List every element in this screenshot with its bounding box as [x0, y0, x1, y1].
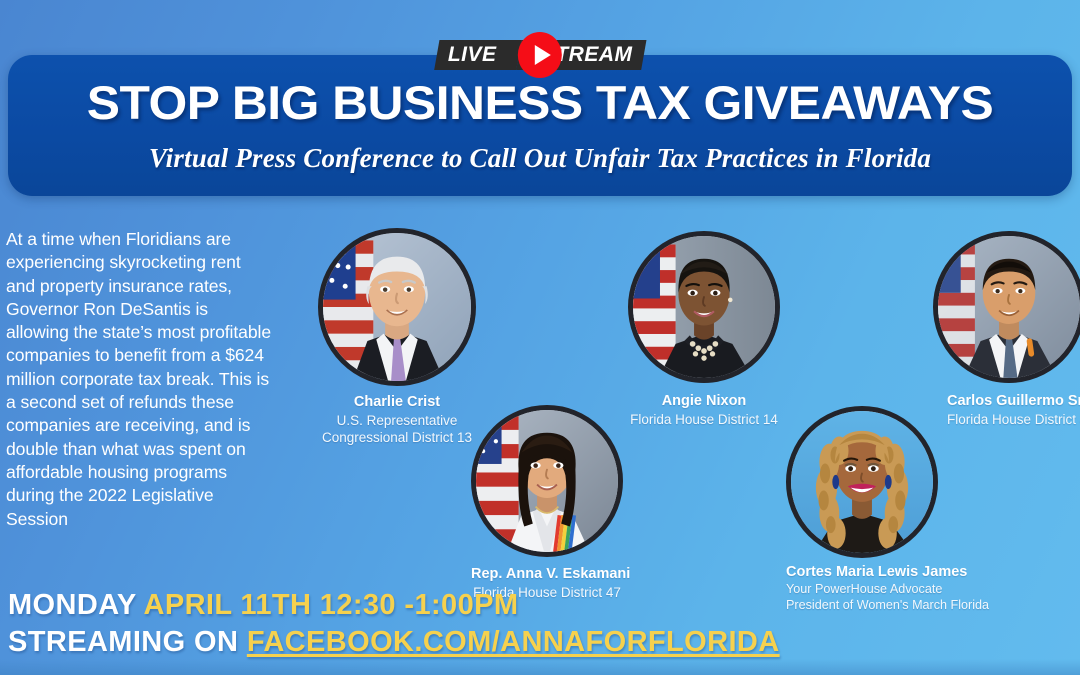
avatar-charlie-crist [318, 228, 476, 386]
live-label: LIVE [448, 43, 497, 67]
live-stream-badge: LIVE STREAM [437, 33, 643, 77]
speaker-name: Cortes Maria Lewis James [786, 564, 938, 582]
avatar-angie-nixon [628, 231, 780, 383]
footer-datetime: APRIL 11TH 12:30 -1:00PM [143, 589, 518, 621]
speaker-name: Charlie Crist [318, 394, 476, 412]
speaker-charlie-crist: Charlie Crist U.S. Representative Congre… [318, 228, 476, 446]
footer-day: MONDAY [8, 589, 143, 621]
facebook-link[interactable]: FACEBOOK.COM/ANNAFORFLORIDA [247, 626, 780, 658]
page-subtitle: Virtual Press Conference to Call Out Unf… [8, 143, 1072, 174]
speaker-district: Florida House District 49 [947, 411, 1080, 428]
page-title: STOP BIG BUSINESS TAX GIVEAWAYS [0, 75, 1080, 130]
footer-details: MONDAY APRIL 11TH 12:30 -1:00PM STREAMIN… [8, 587, 780, 661]
caption-cortes-maria-lewis-james: Cortes Maria Lewis James Your PowerHouse… [786, 564, 938, 613]
speaker-org: President of Women's March Florida [786, 598, 938, 614]
caption-carlos-guillermo-smith: Carlos Guillermo Smith Florida House Dis… [933, 393, 1080, 428]
speaker-role: Your PowerHouse Advocate [786, 582, 938, 598]
speaker-cortes-maria-lewis-james: Cortes Maria Lewis James Your PowerHouse… [786, 406, 938, 613]
speaker-angie-nixon: Angie Nixon Florida House District 14 [628, 231, 780, 428]
speaker-name: Carlos Guillermo Smith [947, 393, 1080, 411]
speaker-district: Congressional District 13 [318, 429, 476, 446]
footer-date-line: MONDAY APRIL 11TH 12:30 -1:00PM [8, 587, 780, 624]
speaker-name: Rep. Anna V. Eskamani [471, 566, 623, 584]
flyer-canvas: STOP BIG BUSINESS TAX GIVEAWAYS Virtual … [0, 0, 1080, 675]
caption-angie-nixon: Angie Nixon Florida House District 14 [628, 393, 780, 428]
caption-charlie-crist: Charlie Crist U.S. Representative Congre… [318, 394, 476, 446]
avatar-cortes-maria-lewis-james [786, 406, 938, 558]
footer-streaming-label: STREAMING ON [8, 626, 247, 658]
description-text: At a time when Floridians are experienci… [6, 228, 274, 531]
speaker-carlos-guillermo-smith: Carlos Guillermo Smith Florida House Dis… [933, 231, 1080, 428]
play-triangle-icon [518, 32, 562, 78]
speaker-role: U.S. Representative [318, 412, 476, 429]
avatar-carlos-guillermo-smith [933, 231, 1080, 383]
footer-stream-line: STREAMING ON FACEBOOK.COM/ANNAFORFLORIDA [8, 624, 780, 661]
avatar-anna-v-eskamani [471, 405, 623, 557]
live-label-box: LIVE [434, 40, 521, 70]
speaker-name: Angie Nixon [628, 393, 780, 411]
speaker-anna-v-eskamani: Rep. Anna V. Eskamani Florida House Dist… [471, 405, 623, 601]
speaker-district: Florida House District 14 [628, 411, 780, 428]
